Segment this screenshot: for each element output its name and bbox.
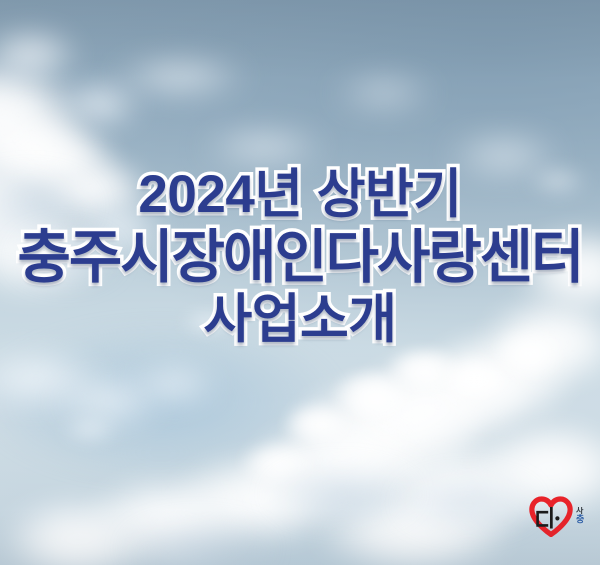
title-line-1: 2024년 상반기 xyxy=(0,168,600,229)
cloud-shape xyxy=(0,23,84,85)
logo-caption: 사 충 xyxy=(576,507,594,525)
cloud-shadow xyxy=(396,475,540,532)
title-block: 2024년 상반기 충주시장애인다사랑센터 사업소개 xyxy=(0,168,600,346)
title-line-2: 충주시장애인다사랑센터 xyxy=(0,229,600,293)
cloud-wisp xyxy=(108,57,252,97)
cloud-wisp xyxy=(198,130,330,164)
cloud-shadow xyxy=(264,463,420,525)
logo-caption-bottom: 충 xyxy=(576,515,594,524)
cloud-puff xyxy=(282,401,354,446)
cloud-wisp xyxy=(330,79,438,107)
cloud-shape xyxy=(126,362,222,407)
title-line-3: 사업소개 xyxy=(0,293,600,346)
video-title-card: 2024년 상반기 충주시장애인다사랑센터 사업소개 사 충 xyxy=(0,0,600,565)
cloud-wisp xyxy=(60,418,120,441)
center-logo: 사 충 xyxy=(529,495,594,537)
heart-logo-icon xyxy=(529,495,573,537)
